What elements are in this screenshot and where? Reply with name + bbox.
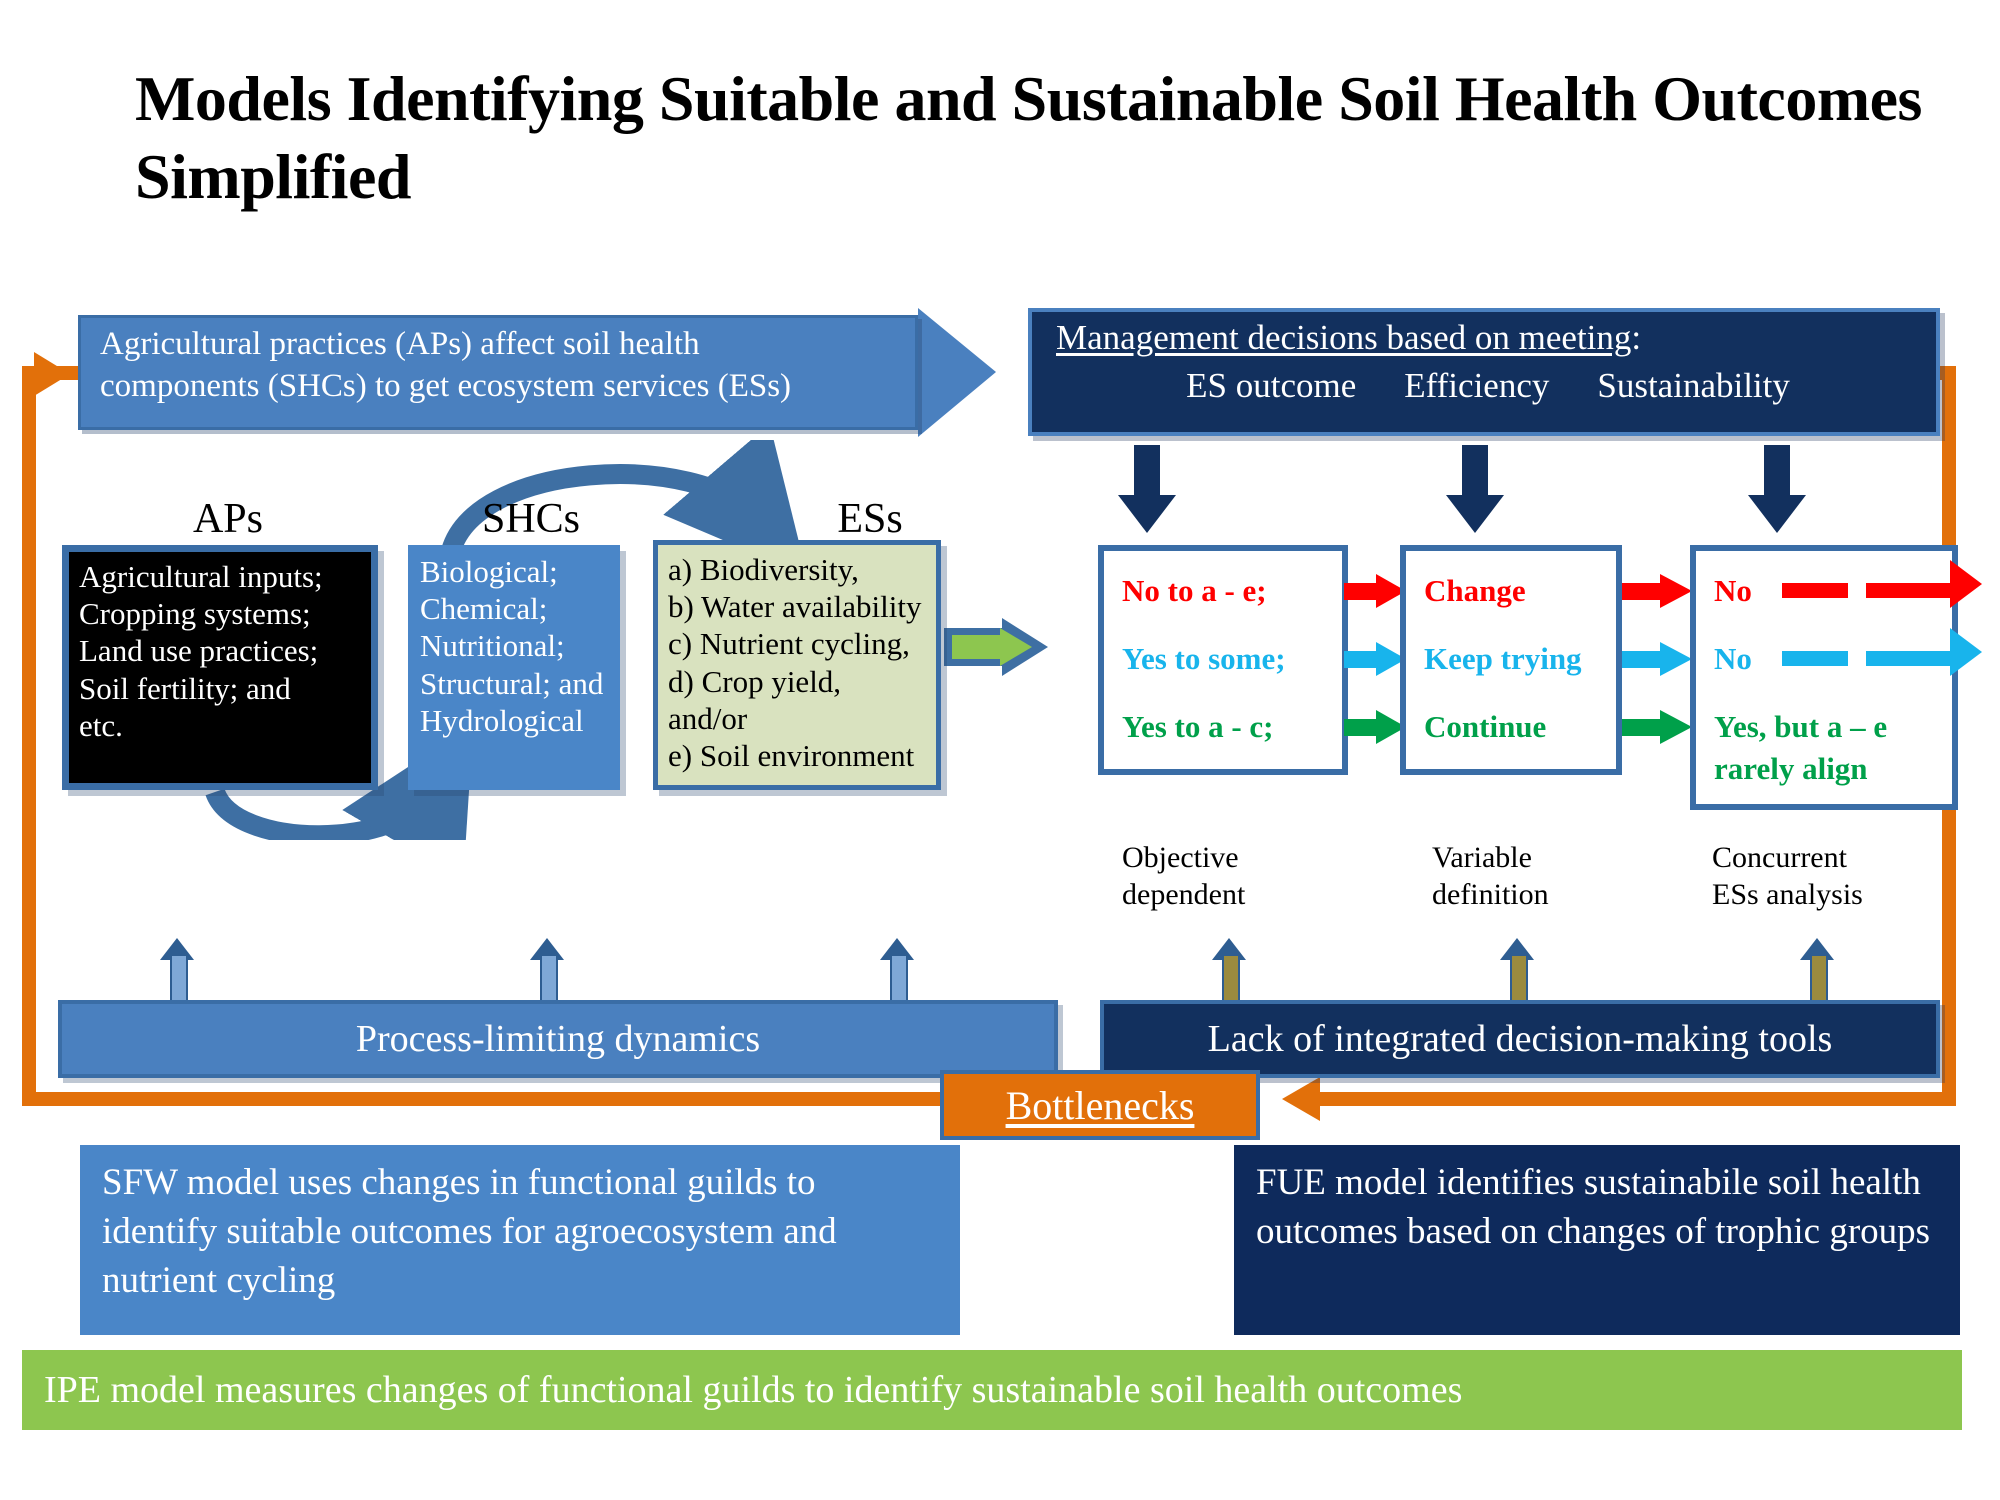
criterion-sustainability: Sustainability — [1597, 366, 1790, 406]
criterion-es-outcome: ES outcome — [1186, 366, 1356, 406]
aps-line-4: Soil fertility; and — [79, 670, 361, 707]
shcs-line-2: Chemical; — [420, 590, 608, 627]
sfw-model-box: SFW model uses changes in functional gui… — [80, 1145, 960, 1335]
caption-concurrent-line2: ESs analysis — [1712, 877, 1952, 914]
orange-loop-bottom-left-segment — [22, 1092, 942, 1106]
decision-row-yes-to-some: Yes to some; — [1122, 641, 1286, 677]
caption-concurrent-line1: Concurrent — [1712, 840, 1952, 877]
banner-text: Agricultural practices (APs) affect soil… — [100, 323, 900, 407]
connector-arrow-cyan-1-icon — [1344, 642, 1406, 676]
shcs-line-4: Structural; and — [420, 665, 608, 702]
orange-loop-bottom-right-segment — [1318, 1092, 1956, 1106]
up-arrow-process-2-icon — [530, 938, 564, 1000]
decision-box-concurrent: No No Yes, but a – e rarely align — [1690, 545, 1958, 810]
lack-of-tools-banner: Lack of integrated decision-making tools — [1100, 1000, 1940, 1078]
banner-line-1: Agricultural practices (APs) affect soil… — [100, 323, 900, 365]
decision-row-no-to-ae: No to a - e; — [1122, 573, 1267, 609]
management-heading-underlined: Management decisions based on meeting — [1056, 318, 1631, 357]
navy-down-arrow-sustainability-icon — [1748, 445, 1806, 535]
shcs-line-1: Biological; — [420, 553, 608, 590]
exit-arrowhead-red-icon — [1950, 560, 1982, 608]
aps-line-5: etc. — [79, 707, 361, 744]
management-heading-colon: : — [1631, 318, 1641, 357]
caption-variable-line1: Variable — [1432, 840, 1632, 877]
ess-line-1: a) Biodiversity, — [668, 551, 926, 588]
connector-arrow-red-1-icon — [1344, 574, 1406, 608]
process-limiting-dynamics-banner: Process-limiting dynamics — [58, 1000, 1058, 1078]
navy-down-arrow-es-outcome-icon — [1118, 445, 1176, 535]
decision-row-no-red: No — [1714, 573, 1752, 609]
fue-model-box: FUE model identifies sustainabile soil h… — [1234, 1145, 1960, 1335]
bottlenecks-label: Bottlenecks — [940, 1070, 1260, 1140]
dash-cyan-b-icon — [1866, 651, 1950, 666]
banner-line-2: components (SHCs) to get ecosystem servi… — [100, 365, 900, 407]
management-heading: Management decisions based on meeting: — [1056, 318, 1641, 358]
up-arrow-tools-3-icon — [1800, 938, 1834, 1000]
criterion-efficiency: Efficiency — [1404, 366, 1549, 406]
decision-box-objective: No to a - e; Yes to some; Yes to a - c; — [1098, 545, 1348, 775]
caption-concurrent-ess-analysis: Concurrent ESs analysis — [1712, 840, 1952, 913]
connector-arrow-green-2-icon — [1622, 710, 1692, 744]
ess-line-3: c) Nutrient cycling, — [668, 625, 926, 662]
bottlenecks-text: Bottlenecks — [1006, 1082, 1195, 1129]
ipe-model-bar: IPE model measures changes of functional… — [22, 1350, 1962, 1430]
decision-row-no-cyan: No — [1714, 641, 1752, 677]
aps-line-2: Cropping systems; — [79, 595, 361, 632]
page-title: Models Identifying Suitable and Sustaina… — [135, 60, 1935, 216]
decision-row-keep-trying: Keep trying — [1424, 641, 1582, 677]
ess-line-4: d) Crop yield, and/or — [668, 663, 926, 737]
banner-chevron-tip-icon — [918, 308, 996, 437]
up-arrow-tools-2-icon — [1500, 938, 1534, 1000]
ess-content-box: a) Biodiversity, b) Water availability c… — [653, 540, 941, 790]
decision-row-yes-but-cont: rarely align — [1714, 751, 1868, 787]
connector-arrow-cyan-2-icon — [1622, 642, 1692, 676]
ess-line-2: b) Water availability — [668, 588, 926, 625]
caption-variable-line2: definition — [1432, 877, 1632, 914]
connector-arrow-red-2-icon — [1622, 574, 1692, 608]
navy-down-arrow-efficiency-icon — [1446, 445, 1504, 535]
dash-red-b-icon — [1866, 583, 1950, 598]
aps-line-1: Agricultural inputs; — [79, 558, 361, 595]
dash-red-a-icon — [1782, 583, 1848, 598]
dash-cyan-a-icon — [1782, 651, 1848, 666]
up-arrow-process-3-icon — [880, 938, 914, 1000]
green-arrow-ess-to-decisions-icon — [944, 618, 1048, 676]
aps-line-3: Land use practices; — [79, 632, 361, 669]
decision-row-change: Change — [1424, 573, 1526, 609]
agricultural-practices-banner: Agricultural practices (APs) affect soil… — [78, 315, 998, 430]
shcs-content-box: Biological; Chemical; Nutritional; Struc… — [408, 545, 620, 790]
group-header-ess: ESs — [700, 495, 1040, 543]
decision-row-continue: Continue — [1424, 709, 1546, 745]
orange-arrowhead-right-icon — [34, 352, 70, 396]
arc-aps-to-shcs-icon — [215, 790, 435, 835]
aps-content-box: Agricultural inputs; Cropping systems; L… — [62, 545, 378, 790]
group-header-shcs: SHCs — [400, 495, 662, 543]
exit-arrowhead-cyan-icon — [1950, 628, 1982, 676]
group-header-aps: APs — [58, 495, 398, 543]
connector-arrow-green-1-icon — [1344, 710, 1406, 744]
decision-row-yes-to-ac: Yes to a - c; — [1122, 709, 1274, 745]
orange-arrowhead-left-icon — [1282, 1077, 1320, 1121]
management-criteria-row: ES outcome Efficiency Sustainability — [1032, 366, 1944, 406]
diagram-canvas: Models Identifying Suitable and Sustaina… — [0, 0, 2000, 1500]
decision-box-variable: Change Keep trying Continue — [1400, 545, 1622, 775]
decision-row-yes-but: Yes, but a – e — [1714, 709, 1887, 745]
caption-objective-line1: Objective — [1122, 840, 1352, 877]
management-decisions-box: Management decisions based on meeting: E… — [1028, 308, 1940, 436]
caption-objective-dependent: Objective dependent — [1122, 840, 1352, 913]
shcs-line-3: Nutritional; — [420, 627, 608, 664]
up-arrow-process-1-icon — [160, 938, 194, 1000]
caption-objective-line2: dependent — [1122, 877, 1352, 914]
up-arrow-tools-1-icon — [1212, 938, 1246, 1000]
ess-line-5: e) Soil environment — [668, 737, 926, 774]
orange-loop-left-segment — [22, 366, 36, 1106]
shcs-line-5: Hydrological — [420, 702, 608, 739]
caption-variable-definition: Variable definition — [1432, 840, 1632, 913]
